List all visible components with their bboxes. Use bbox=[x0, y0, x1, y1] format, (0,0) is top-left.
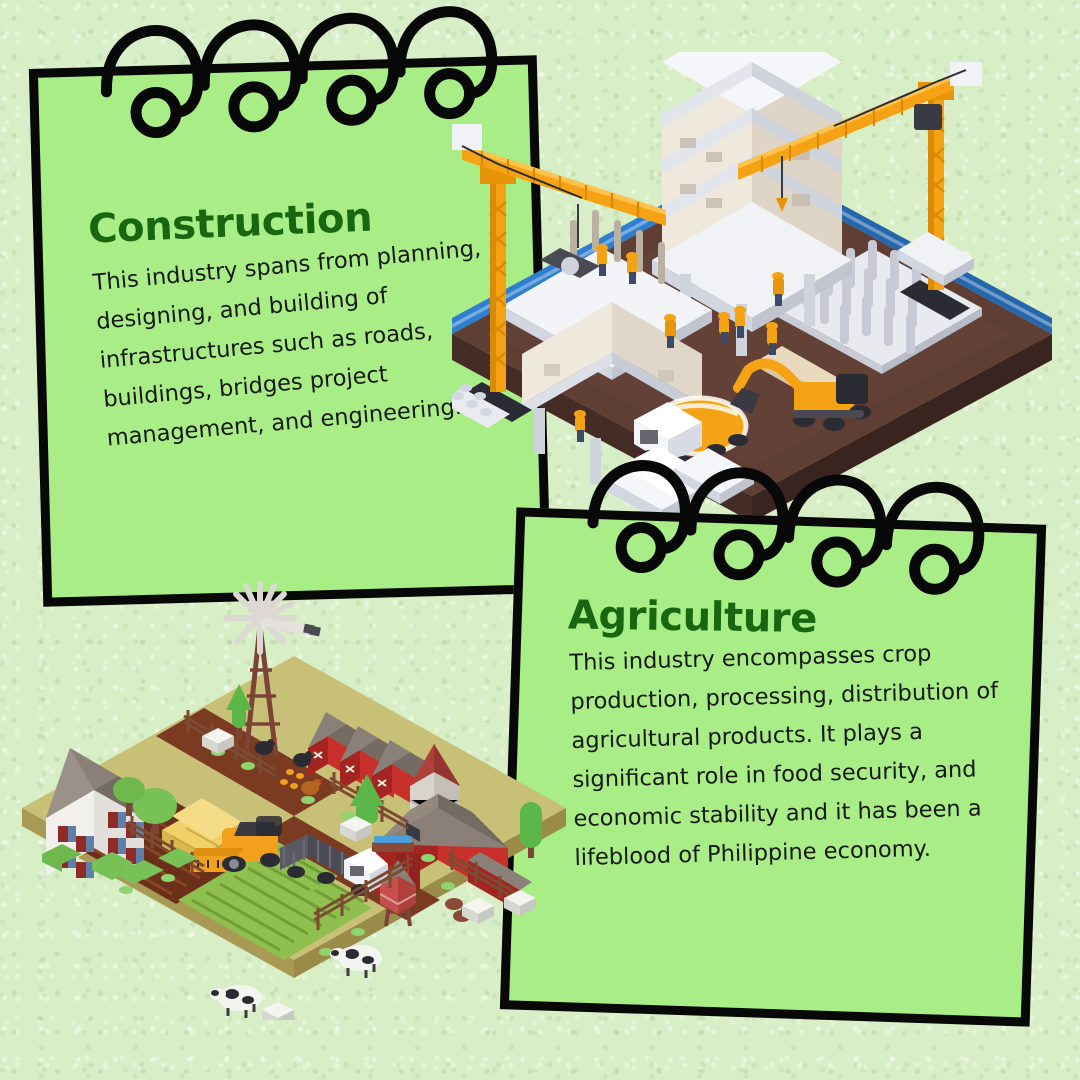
card-agriculture[interactable]: Agriculture This industry encompasses cr… bbox=[500, 507, 1046, 1026]
poster-canvas: Construction This industry spans from pl… bbox=[0, 0, 1080, 1080]
construction-site-illustration bbox=[452, 52, 1072, 522]
windmill-blades bbox=[226, 584, 320, 652]
card-agriculture-heading: Agriculture bbox=[568, 593, 818, 642]
card-agriculture-body: This industry encompasses crop productio… bbox=[569, 633, 1005, 878]
farm-scene-illustration bbox=[8, 560, 580, 1020]
card-agriculture-inner: Agriculture This industry encompasses cr… bbox=[509, 517, 1037, 1018]
